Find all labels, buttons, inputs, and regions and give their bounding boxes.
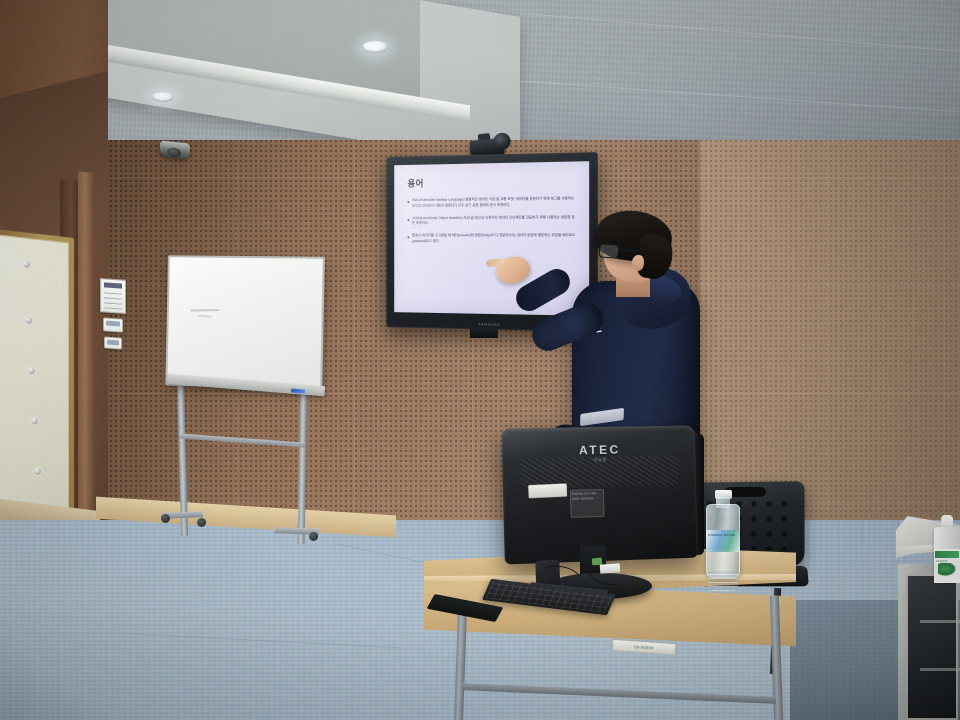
whiteboard-caster [197,518,206,527]
panel-stud [31,417,38,425]
bottle-brand-text: MINERAL WATER [708,533,735,537]
ceiling [0,0,960,152]
panel-stud [23,260,30,268]
monitor-spec-text: MODEL AC 100-240V 50/60Hz [572,491,602,501]
photo-scene: 용어 XML(eXtensible Markup Language) 범용적인 … [0,0,960,720]
whiteboard-smudge [190,309,219,311]
notice-text-lines [104,289,122,309]
monitor-serial-sticker [528,484,567,499]
bullet-dot-icon [408,201,410,203]
acoustic-panel-face [0,234,69,522]
panel-stud [25,316,32,324]
hand-sanitizer[interactable]: CLEAN [934,515,960,579]
water-bottle[interactable]: MINERAL WATER [706,490,740,578]
cabinet-shelf [920,668,960,671]
whiteboard-smudge [198,315,212,318]
whiteboard-crossbar [179,433,305,447]
control-panel-screen [106,321,120,327]
whiteboard-caster [309,532,318,541]
whiteboard-post-right [298,382,308,544]
bottle-ribs [708,571,738,591]
bottle-label: MINERAL WATER [706,530,740,552]
monitor-rear-panel: ATEC 보급형 MODEL AC 100-240V 50/60Hz [501,425,698,564]
recessed-downlight [362,41,388,53]
slide-bullet-text: XML(eXtensible Markup Language) 범용적인 데이터… [412,196,577,209]
sanitizer-accent-bar [935,551,959,558]
display-brand-logo: SAMSUNG [478,321,501,326]
door-jamb [78,171,94,533]
wall-control-panel-secondary[interactable] [104,336,122,349]
acoustic-wall-panel [0,229,74,528]
glasses-lens [599,243,620,258]
bullet-dot-icon [408,237,410,239]
power-plug [600,563,621,573]
wall-control-panel[interactable] [103,317,123,332]
cabinet-shelf [920,620,960,623]
whiteboard-surface[interactable] [165,255,325,390]
posted-notice [100,278,126,314]
bullet-dot-icon [408,219,410,221]
control-panel-screen [107,340,119,346]
panel-stud [28,367,35,375]
whiteboard-caster [161,514,170,523]
wall-bright-region [700,140,960,540]
whiteboard[interactable] [163,256,325,544]
recessed-downlight [152,92,174,102]
panel-stud [34,467,41,475]
leaf-icon [938,563,956,576]
display-mount [470,328,498,338]
monitor-brand-logo: ATEC [579,443,621,458]
notice-header-bar [104,282,122,288]
sanitizer-body: CLEAN [934,527,960,579]
slide-title: 용어 [408,173,577,189]
camera-lens-icon [493,132,512,151]
cabinet-glass-door[interactable] [906,574,958,720]
slide-bullet: XML(eXtensible Markup Language) 범용적인 데이터… [408,196,577,209]
sanitizer-label: CLEAN [934,549,960,583]
presenter-ear [632,255,644,271]
